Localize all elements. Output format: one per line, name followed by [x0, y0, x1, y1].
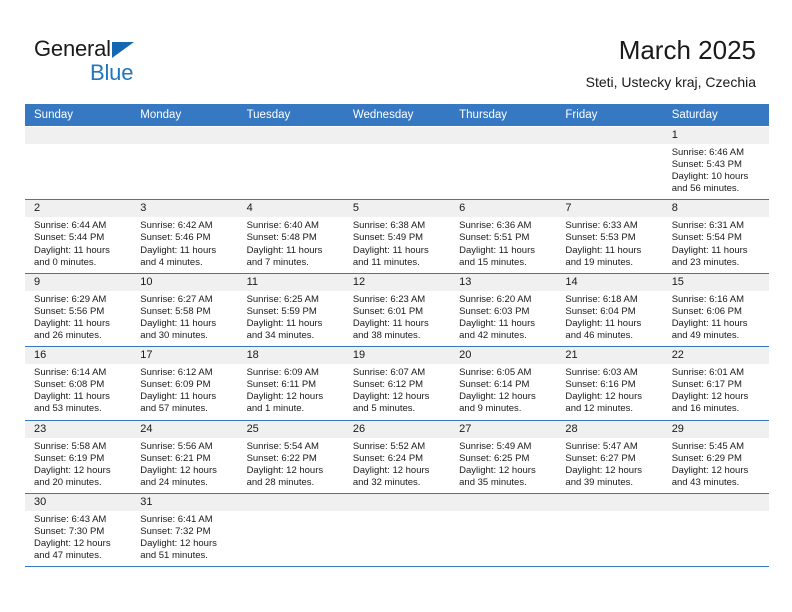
day-details: Sunrise: 6:25 AMSunset: 5:59 PMDaylight:…: [238, 291, 344, 346]
day-details: [556, 511, 662, 518]
day-cell[interactable]: 14Sunrise: 6:18 AMSunset: 6:04 PMDayligh…: [556, 274, 662, 346]
day-details: Sunrise: 6:29 AMSunset: 5:56 PMDaylight:…: [25, 291, 131, 346]
day-number: 2: [25, 200, 131, 217]
day-sunset-text: Sunset: 5:53 PM: [565, 232, 656, 244]
day-sunrise-text: Sunrise: 5:58 AM: [34, 441, 125, 453]
day-sunrise-text: Sunrise: 6:23 AM: [353, 294, 444, 306]
day-daylight2-text: and 43 minutes.: [672, 477, 763, 489]
day-details: Sunrise: 6:43 AMSunset: 7:30 PMDaylight:…: [25, 511, 131, 566]
day-sunset-text: Sunset: 6:01 PM: [353, 306, 444, 318]
day-sunrise-text: Sunrise: 6:41 AM: [140, 514, 231, 526]
day-cell[interactable]: 15Sunrise: 6:16 AMSunset: 6:06 PMDayligh…: [663, 274, 769, 346]
day-sunrise-text: Sunrise: 5:47 AM: [565, 441, 656, 453]
day-daylight1-text: Daylight: 11 hours: [672, 245, 763, 257]
day-daylight2-text: and 38 minutes.: [353, 330, 444, 342]
day-daylight1-text: Daylight: 12 hours: [672, 391, 763, 403]
day-daylight2-text: and 7 minutes.: [247, 257, 338, 269]
day-daylight2-text: and 28 minutes.: [247, 477, 338, 489]
day-number: 20: [450, 347, 556, 364]
day-cell-empty: [344, 127, 450, 199]
day-cell[interactable]: 26Sunrise: 5:52 AMSunset: 6:24 PMDayligh…: [344, 421, 450, 493]
day-sunset-text: Sunset: 6:06 PM: [672, 306, 763, 318]
day-daylight2-text: and 11 minutes.: [353, 257, 444, 269]
day-sunrise-text: Sunrise: 6:18 AM: [565, 294, 656, 306]
day-details: Sunrise: 6:31 AMSunset: 5:54 PMDaylight:…: [663, 217, 769, 272]
day-daylight2-text: and 9 minutes.: [459, 403, 550, 415]
day-sunset-text: Sunset: 5:56 PM: [34, 306, 125, 318]
day-cell-empty: [344, 494, 450, 566]
day-details: Sunrise: 5:45 AMSunset: 6:29 PMDaylight:…: [663, 438, 769, 493]
day-daylight2-text: and 30 minutes.: [140, 330, 231, 342]
page-subtitle: Steti, Ustecky kraj, Czechia: [586, 72, 756, 92]
day-sunset-text: Sunset: 5:49 PM: [353, 232, 444, 244]
day-daylight1-text: Daylight: 12 hours: [140, 465, 231, 477]
day-cell[interactable]: 4Sunrise: 6:40 AMSunset: 5:48 PMDaylight…: [238, 200, 344, 272]
day-sunset-text: Sunset: 6:24 PM: [353, 453, 444, 465]
day-cell[interactable]: 7Sunrise: 6:33 AMSunset: 5:53 PMDaylight…: [556, 200, 662, 272]
day-daylight1-text: Daylight: 12 hours: [565, 391, 656, 403]
day-cell[interactable]: 21Sunrise: 6:03 AMSunset: 6:16 PMDayligh…: [556, 347, 662, 419]
week-row: 2Sunrise: 6:44 AMSunset: 5:44 PMDaylight…: [25, 200, 769, 273]
day-daylight2-text: and 47 minutes.: [34, 550, 125, 562]
day-sunset-text: Sunset: 5:59 PM: [247, 306, 338, 318]
day-number: 17: [131, 347, 237, 364]
day-details: Sunrise: 6:42 AMSunset: 5:46 PMDaylight:…: [131, 217, 237, 272]
day-details: Sunrise: 5:54 AMSunset: 6:22 PMDaylight:…: [238, 438, 344, 493]
day-details: Sunrise: 6:46 AMSunset: 5:43 PMDaylight:…: [663, 144, 769, 199]
day-number: [25, 127, 131, 144]
day-cell[interactable]: 27Sunrise: 5:49 AMSunset: 6:25 PMDayligh…: [450, 421, 556, 493]
day-daylight2-text: and 49 minutes.: [672, 330, 763, 342]
day-details: [238, 511, 344, 518]
day-number: [344, 494, 450, 511]
day-sunset-text: Sunset: 6:29 PM: [672, 453, 763, 465]
day-sunset-text: Sunset: 6:17 PM: [672, 379, 763, 391]
day-cell-empty: [131, 127, 237, 199]
day-daylight2-text: and 5 minutes.: [353, 403, 444, 415]
day-sunrise-text: Sunrise: 6:33 AM: [565, 220, 656, 232]
day-sunset-text: Sunset: 6:04 PM: [565, 306, 656, 318]
day-cell[interactable]: 6Sunrise: 6:36 AMSunset: 5:51 PMDaylight…: [450, 200, 556, 272]
day-sunrise-text: Sunrise: 6:20 AM: [459, 294, 550, 306]
day-cell[interactable]: 12Sunrise: 6:23 AMSunset: 6:01 PMDayligh…: [344, 274, 450, 346]
brand-logo[interactable]: General Blue: [34, 36, 214, 92]
day-sunset-text: Sunset: 6:09 PM: [140, 379, 231, 391]
day-sunrise-text: Sunrise: 6:42 AM: [140, 220, 231, 232]
day-daylight1-text: Daylight: 12 hours: [247, 465, 338, 477]
day-cell[interactable]: 18Sunrise: 6:09 AMSunset: 6:11 PMDayligh…: [238, 347, 344, 419]
day-cell[interactable]: 1Sunrise: 6:46 AMSunset: 5:43 PMDaylight…: [663, 127, 769, 199]
day-sunrise-text: Sunrise: 6:12 AM: [140, 367, 231, 379]
day-number: 5: [344, 200, 450, 217]
day-number: 8: [663, 200, 769, 217]
day-details: Sunrise: 5:56 AMSunset: 6:21 PMDaylight:…: [131, 438, 237, 493]
day-details: Sunrise: 6:12 AMSunset: 6:09 PMDaylight:…: [131, 364, 237, 419]
day-sunrise-text: Sunrise: 6:25 AM: [247, 294, 338, 306]
day-sunrise-text: Sunrise: 6:36 AM: [459, 220, 550, 232]
day-number: 16: [25, 347, 131, 364]
day-sunset-text: Sunset: 6:19 PM: [34, 453, 125, 465]
day-daylight1-text: Daylight: 10 hours: [672, 171, 763, 183]
day-number: [663, 494, 769, 511]
day-sunrise-text: Sunrise: 6:43 AM: [34, 514, 125, 526]
day-number: 12: [344, 274, 450, 291]
day-details: [344, 144, 450, 151]
day-sunset-text: Sunset: 6:21 PM: [140, 453, 231, 465]
day-details: Sunrise: 6:38 AMSunset: 5:49 PMDaylight:…: [344, 217, 450, 272]
day-cell[interactable]: 31Sunrise: 6:41 AMSunset: 7:32 PMDayligh…: [131, 494, 237, 566]
day-details: Sunrise: 5:47 AMSunset: 6:27 PMDaylight:…: [556, 438, 662, 493]
calendar-weeks: 1Sunrise: 6:46 AMSunset: 5:43 PMDaylight…: [25, 126, 769, 567]
day-daylight1-text: Daylight: 12 hours: [34, 538, 125, 550]
day-number: 23: [25, 421, 131, 438]
day-sunset-text: Sunset: 6:11 PM: [247, 379, 338, 391]
day-cell[interactable]: 2Sunrise: 6:44 AMSunset: 5:44 PMDaylight…: [25, 200, 131, 272]
day-daylight2-text: and 23 minutes.: [672, 257, 763, 269]
day-sunrise-text: Sunrise: 6:01 AM: [672, 367, 763, 379]
day-details: Sunrise: 6:18 AMSunset: 6:04 PMDaylight:…: [556, 291, 662, 346]
day-number: 30: [25, 494, 131, 511]
day-number: [131, 127, 237, 144]
day-sunrise-text: Sunrise: 6:14 AM: [34, 367, 125, 379]
day-daylight2-text: and 0 minutes.: [34, 257, 125, 269]
day-daylight2-text: and 46 minutes.: [565, 330, 656, 342]
weekday-header-sunday: Sunday: [25, 104, 131, 126]
day-details: [344, 511, 450, 518]
day-sunrise-text: Sunrise: 5:56 AM: [140, 441, 231, 453]
calendar-grid: SundayMondayTuesdayWednesdayThursdayFrid…: [25, 104, 769, 567]
day-sunset-text: Sunset: 6:03 PM: [459, 306, 550, 318]
day-number: 7: [556, 200, 662, 217]
day-sunrise-text: Sunrise: 6:03 AM: [565, 367, 656, 379]
day-details: Sunrise: 6:44 AMSunset: 5:44 PMDaylight:…: [25, 217, 131, 272]
day-daylight1-text: Daylight: 11 hours: [140, 318, 231, 330]
day-daylight2-text: and 42 minutes.: [459, 330, 550, 342]
day-number: 1: [663, 127, 769, 144]
calendar-page: General Blue March 2025 Steti, Ustecky k…: [0, 0, 792, 612]
brand-row-bottom: Blue: [34, 60, 214, 86]
day-sunset-text: Sunset: 5:48 PM: [247, 232, 338, 244]
day-sunrise-text: Sunrise: 6:07 AM: [353, 367, 444, 379]
day-details: Sunrise: 6:14 AMSunset: 6:08 PMDaylight:…: [25, 364, 131, 419]
day-sunrise-text: Sunrise: 5:54 AM: [247, 441, 338, 453]
triangle-icon: [112, 42, 134, 58]
day-details: [556, 144, 662, 151]
week-row: 16Sunrise: 6:14 AMSunset: 6:08 PMDayligh…: [25, 347, 769, 420]
day-details: Sunrise: 6:36 AMSunset: 5:51 PMDaylight:…: [450, 217, 556, 272]
day-details: Sunrise: 6:05 AMSunset: 6:14 PMDaylight:…: [450, 364, 556, 419]
day-sunset-text: Sunset: 5:54 PM: [672, 232, 763, 244]
day-details: Sunrise: 6:40 AMSunset: 5:48 PMDaylight:…: [238, 217, 344, 272]
day-cell[interactable]: 16Sunrise: 6:14 AMSunset: 6:08 PMDayligh…: [25, 347, 131, 419]
day-sunrise-text: Sunrise: 6:05 AM: [459, 367, 550, 379]
day-number: 28: [556, 421, 662, 438]
day-sunrise-text: Sunrise: 6:29 AM: [34, 294, 125, 306]
day-daylight1-text: Daylight: 11 hours: [353, 245, 444, 257]
day-daylight2-text: and 57 minutes.: [140, 403, 231, 415]
day-details: Sunrise: 5:49 AMSunset: 6:25 PMDaylight:…: [450, 438, 556, 493]
day-details: Sunrise: 6:07 AMSunset: 6:12 PMDaylight:…: [344, 364, 450, 419]
day-cell-empty: [450, 494, 556, 566]
day-cell[interactable]: 25Sunrise: 5:54 AMSunset: 6:22 PMDayligh…: [238, 421, 344, 493]
day-sunrise-text: Sunrise: 6:27 AM: [140, 294, 231, 306]
day-cell[interactable]: 9Sunrise: 6:29 AMSunset: 5:56 PMDaylight…: [25, 274, 131, 346]
day-cell[interactable]: 28Sunrise: 5:47 AMSunset: 6:27 PMDayligh…: [556, 421, 662, 493]
day-details: Sunrise: 6:20 AMSunset: 6:03 PMDaylight:…: [450, 291, 556, 346]
day-daylight2-text: and 51 minutes.: [140, 550, 231, 562]
day-cell[interactable]: 29Sunrise: 5:45 AMSunset: 6:29 PMDayligh…: [663, 421, 769, 493]
day-daylight2-text: and 15 minutes.: [459, 257, 550, 269]
day-number: 19: [344, 347, 450, 364]
day-sunset-text: Sunset: 5:44 PM: [34, 232, 125, 244]
day-daylight1-text: Daylight: 11 hours: [565, 318, 656, 330]
day-sunset-text: Sunset: 5:58 PM: [140, 306, 231, 318]
day-details: Sunrise: 6:27 AMSunset: 5:58 PMDaylight:…: [131, 291, 237, 346]
day-number: [450, 494, 556, 511]
title-block: March 2025 Steti, Ustecky kraj, Czechia: [586, 34, 756, 92]
day-sunset-text: Sunset: 6:22 PM: [247, 453, 338, 465]
day-daylight1-text: Daylight: 12 hours: [459, 391, 550, 403]
day-details: [663, 511, 769, 518]
day-details: Sunrise: 6:23 AMSunset: 6:01 PMDaylight:…: [344, 291, 450, 346]
weekday-header-tuesday: Tuesday: [238, 104, 344, 126]
day-daylight1-text: Daylight: 12 hours: [247, 391, 338, 403]
day-sunrise-text: Sunrise: 5:52 AM: [353, 441, 444, 453]
day-daylight1-text: Daylight: 11 hours: [34, 391, 125, 403]
day-number: 26: [344, 421, 450, 438]
day-cell-empty: [556, 127, 662, 199]
weekday-header-row: SundayMondayTuesdayWednesdayThursdayFrid…: [25, 104, 769, 126]
week-row: 23Sunrise: 5:58 AMSunset: 6:19 PMDayligh…: [25, 421, 769, 494]
day-cell[interactable]: 8Sunrise: 6:31 AMSunset: 5:54 PMDaylight…: [663, 200, 769, 272]
day-cell[interactable]: 10Sunrise: 6:27 AMSunset: 5:58 PMDayligh…: [131, 274, 237, 346]
day-number: 25: [238, 421, 344, 438]
day-number: [238, 127, 344, 144]
weekday-header-thursday: Thursday: [450, 104, 556, 126]
day-daylight1-text: Daylight: 12 hours: [459, 465, 550, 477]
day-daylight1-text: Daylight: 12 hours: [565, 465, 656, 477]
day-cell-empty: [238, 494, 344, 566]
day-cell[interactable]: 13Sunrise: 6:20 AMSunset: 6:03 PMDayligh…: [450, 274, 556, 346]
day-sunset-text: Sunset: 7:32 PM: [140, 526, 231, 538]
day-cell-empty: [25, 127, 131, 199]
day-details: [131, 144, 237, 151]
day-sunset-text: Sunset: 5:51 PM: [459, 232, 550, 244]
day-daylight1-text: Daylight: 12 hours: [140, 538, 231, 550]
day-daylight2-text: and 1 minute.: [247, 403, 338, 415]
day-daylight1-text: Daylight: 11 hours: [565, 245, 656, 257]
day-number: 6: [450, 200, 556, 217]
day-details: Sunrise: 6:01 AMSunset: 6:17 PMDaylight:…: [663, 364, 769, 419]
day-daylight1-text: Daylight: 11 hours: [353, 318, 444, 330]
day-cell[interactable]: 5Sunrise: 6:38 AMSunset: 5:49 PMDaylight…: [344, 200, 450, 272]
page-title: March 2025: [586, 34, 756, 66]
day-number: 22: [663, 347, 769, 364]
day-cell[interactable]: 24Sunrise: 5:56 AMSunset: 6:21 PMDayligh…: [131, 421, 237, 493]
day-sunset-text: Sunset: 6:27 PM: [565, 453, 656, 465]
day-sunset-text: Sunset: 6:16 PM: [565, 379, 656, 391]
day-number: 24: [131, 421, 237, 438]
brand-name-blue: Blue: [90, 60, 133, 85]
weekday-header-saturday: Saturday: [663, 104, 769, 126]
day-sunset-text: Sunset: 5:46 PM: [140, 232, 231, 244]
day-cell-empty: [663, 494, 769, 566]
day-cell-empty: [450, 127, 556, 199]
day-daylight2-text: and 26 minutes.: [34, 330, 125, 342]
day-cell[interactable]: 30Sunrise: 6:43 AMSunset: 7:30 PMDayligh…: [25, 494, 131, 566]
day-daylight2-text: and 56 minutes.: [672, 183, 763, 195]
day-daylight1-text: Daylight: 12 hours: [353, 465, 444, 477]
day-number: [238, 494, 344, 511]
day-cell[interactable]: 23Sunrise: 5:58 AMSunset: 6:19 PMDayligh…: [25, 421, 131, 493]
day-details: Sunrise: 6:09 AMSunset: 6:11 PMDaylight:…: [238, 364, 344, 419]
day-number: [450, 127, 556, 144]
day-daylight1-text: Daylight: 11 hours: [672, 318, 763, 330]
day-details: [25, 144, 131, 151]
day-number: 14: [556, 274, 662, 291]
day-sunrise-text: Sunrise: 6:40 AM: [247, 220, 338, 232]
day-sunrise-text: Sunrise: 6:46 AM: [672, 147, 763, 159]
day-daylight1-text: Daylight: 11 hours: [459, 245, 550, 257]
day-sunset-text: Sunset: 6:08 PM: [34, 379, 125, 391]
day-cell-empty: [238, 127, 344, 199]
day-daylight2-text: and 24 minutes.: [140, 477, 231, 489]
day-daylight2-text: and 12 minutes.: [565, 403, 656, 415]
day-daylight2-text: and 16 minutes.: [672, 403, 763, 415]
day-sunrise-text: Sunrise: 6:31 AM: [672, 220, 763, 232]
weekday-header-friday: Friday: [556, 104, 662, 126]
day-daylight2-text: and 53 minutes.: [34, 403, 125, 415]
day-sunrise-text: Sunrise: 5:45 AM: [672, 441, 763, 453]
day-daylight2-text: and 32 minutes.: [353, 477, 444, 489]
week-row: 30Sunrise: 6:43 AMSunset: 7:30 PMDayligh…: [25, 494, 769, 567]
day-sunrise-text: Sunrise: 5:49 AM: [459, 441, 550, 453]
day-number: [556, 127, 662, 144]
day-details: Sunrise: 6:03 AMSunset: 6:16 PMDaylight:…: [556, 364, 662, 419]
day-cell[interactable]: 11Sunrise: 6:25 AMSunset: 5:59 PMDayligh…: [238, 274, 344, 346]
brand-name-general: General: [34, 36, 111, 61]
day-details: Sunrise: 6:41 AMSunset: 7:32 PMDaylight:…: [131, 511, 237, 566]
day-daylight1-text: Daylight: 11 hours: [247, 318, 338, 330]
day-number: 18: [238, 347, 344, 364]
day-daylight2-text: and 19 minutes.: [565, 257, 656, 269]
day-daylight1-text: Daylight: 12 hours: [353, 391, 444, 403]
day-details: Sunrise: 6:33 AMSunset: 5:53 PMDaylight:…: [556, 217, 662, 272]
day-sunset-text: Sunset: 6:25 PM: [459, 453, 550, 465]
day-number: 11: [238, 274, 344, 291]
weekday-header-wednesday: Wednesday: [344, 104, 450, 126]
day-number: 9: [25, 274, 131, 291]
day-cell[interactable]: 17Sunrise: 6:12 AMSunset: 6:09 PMDayligh…: [131, 347, 237, 419]
day-daylight1-text: Daylight: 12 hours: [672, 465, 763, 477]
day-number: 31: [131, 494, 237, 511]
day-daylight1-text: Daylight: 11 hours: [459, 318, 550, 330]
day-sunset-text: Sunset: 6:14 PM: [459, 379, 550, 391]
day-sunset-text: Sunset: 6:12 PM: [353, 379, 444, 391]
day-sunrise-text: Sunrise: 6:38 AM: [353, 220, 444, 232]
day-sunrise-text: Sunrise: 6:09 AM: [247, 367, 338, 379]
weekday-header-monday: Monday: [131, 104, 237, 126]
day-number: 10: [131, 274, 237, 291]
day-sunrise-text: Sunrise: 6:44 AM: [34, 220, 125, 232]
day-cell-empty: [556, 494, 662, 566]
day-daylight2-text: and 39 minutes.: [565, 477, 656, 489]
day-daylight1-text: Daylight: 11 hours: [247, 245, 338, 257]
day-number: [556, 494, 662, 511]
brand-row-top: General: [34, 36, 214, 62]
day-daylight2-text: and 20 minutes.: [34, 477, 125, 489]
day-number: 4: [238, 200, 344, 217]
day-number: 27: [450, 421, 556, 438]
day-daylight1-text: Daylight: 11 hours: [140, 245, 231, 257]
day-daylight2-text: and 35 minutes.: [459, 477, 550, 489]
day-details: Sunrise: 5:52 AMSunset: 6:24 PMDaylight:…: [344, 438, 450, 493]
week-row: 1Sunrise: 6:46 AMSunset: 5:43 PMDaylight…: [25, 126, 769, 200]
week-row: 9Sunrise: 6:29 AMSunset: 5:56 PMDaylight…: [25, 274, 769, 347]
day-daylight1-text: Daylight: 12 hours: [34, 465, 125, 477]
day-cell[interactable]: 22Sunrise: 6:01 AMSunset: 6:17 PMDayligh…: [663, 347, 769, 419]
day-number: 3: [131, 200, 237, 217]
day-number: 29: [663, 421, 769, 438]
day-number: 15: [663, 274, 769, 291]
day-sunset-text: Sunset: 7:30 PM: [34, 526, 125, 538]
day-details: [450, 511, 556, 518]
day-sunset-text: Sunset: 5:43 PM: [672, 159, 763, 171]
day-number: [344, 127, 450, 144]
day-details: Sunrise: 5:58 AMSunset: 6:19 PMDaylight:…: [25, 438, 131, 493]
day-daylight1-text: Daylight: 11 hours: [34, 245, 125, 257]
day-details: [238, 144, 344, 151]
day-details: Sunrise: 6:16 AMSunset: 6:06 PMDaylight:…: [663, 291, 769, 346]
day-daylight2-text: and 34 minutes.: [247, 330, 338, 342]
page-header: General Blue March 2025 Steti, Ustecky k…: [0, 0, 792, 100]
day-cell[interactable]: 20Sunrise: 6:05 AMSunset: 6:14 PMDayligh…: [450, 347, 556, 419]
day-details: [450, 144, 556, 151]
day-cell[interactable]: 19Sunrise: 6:07 AMSunset: 6:12 PMDayligh…: [344, 347, 450, 419]
day-sunrise-text: Sunrise: 6:16 AM: [672, 294, 763, 306]
day-number: 21: [556, 347, 662, 364]
day-daylight2-text: and 4 minutes.: [140, 257, 231, 269]
day-number: 13: [450, 274, 556, 291]
day-daylight1-text: Daylight: 11 hours: [34, 318, 125, 330]
day-daylight1-text: Daylight: 11 hours: [140, 391, 231, 403]
day-cell[interactable]: 3Sunrise: 6:42 AMSunset: 5:46 PMDaylight…: [131, 200, 237, 272]
